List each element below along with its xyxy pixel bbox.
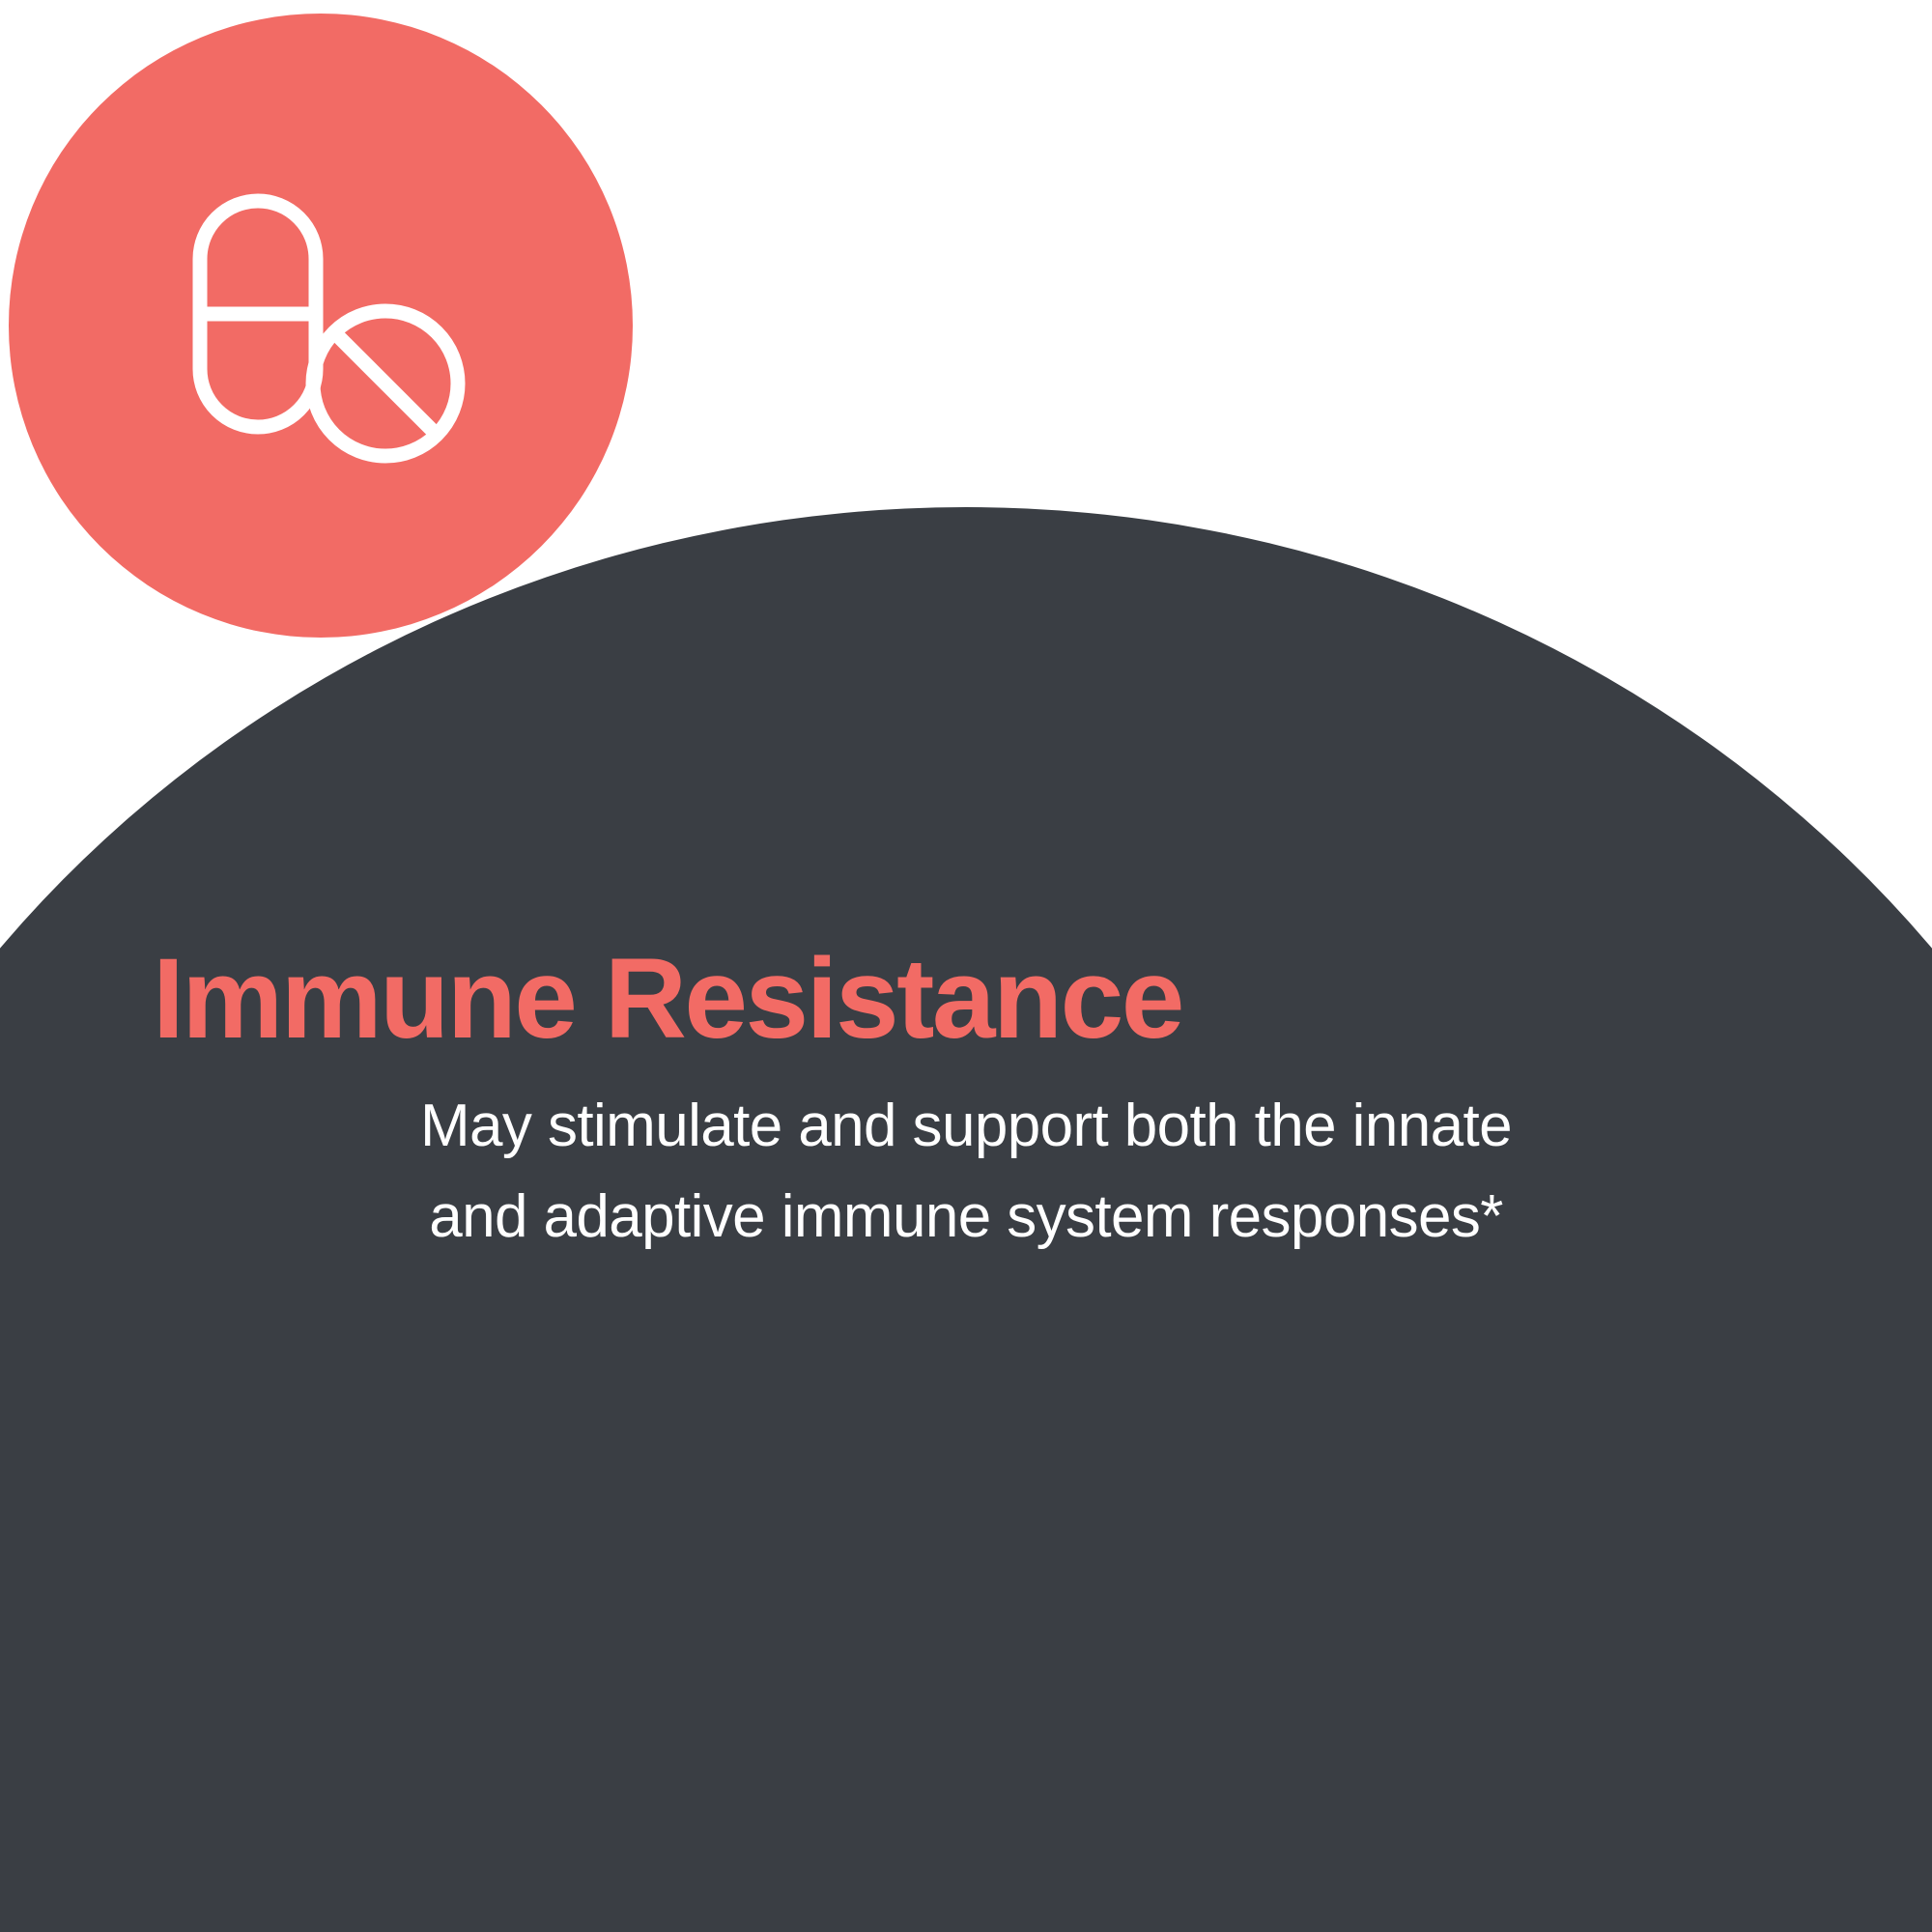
pills-icon-badge xyxy=(9,14,633,638)
benefit-card: Immune Resistance May stimulate and supp… xyxy=(0,0,1932,1932)
description-line-2: and adaptive immune system responses* xyxy=(145,1172,1787,1263)
description-line-1: May stimulate and support both the innat… xyxy=(145,1081,1787,1172)
page-title: Immune Resistance xyxy=(0,942,1932,1056)
text-content: Immune Resistance May stimulate and supp… xyxy=(0,942,1932,1263)
benefit-description: May stimulate and support both the innat… xyxy=(0,1081,1932,1263)
pills-icon xyxy=(172,178,469,473)
